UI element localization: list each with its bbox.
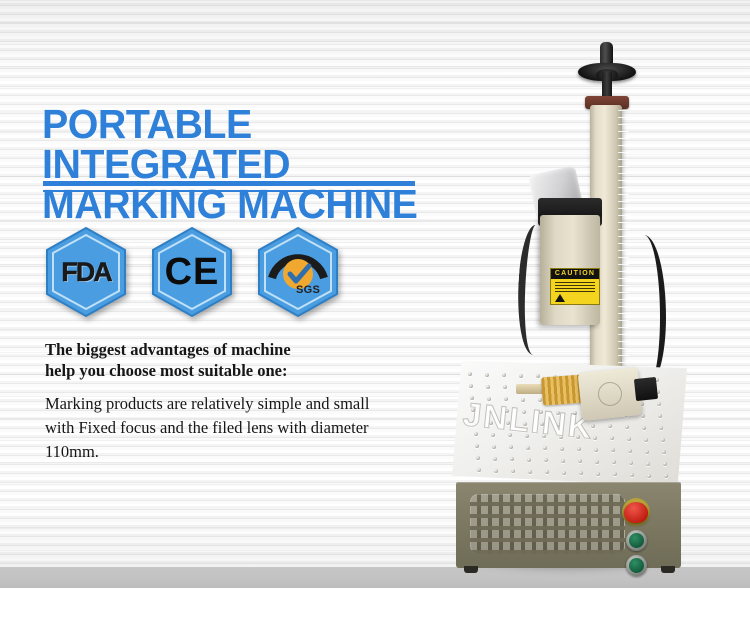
base-foot-right: [661, 566, 675, 573]
sgs-label: SGS: [296, 284, 336, 296]
power-button[interactable]: [626, 555, 647, 576]
lead-heading: The biggest advantages of machine help y…: [45, 339, 405, 381]
page-title: PORTABLE INTEGRATED MARKING MACHINE: [42, 104, 445, 224]
certification-badges: FDA CE: [44, 226, 364, 318]
description-paragraph: Marking products are relatively simple a…: [45, 392, 395, 464]
title-rule-thin: [43, 190, 415, 192]
ce-mark-text: CE: [160, 251, 224, 293]
lead-line-1: The biggest advantages of machine: [45, 340, 291, 359]
button-cap: [629, 533, 644, 548]
badge-ce: CE: [150, 226, 234, 318]
lead-line-2: help you choose most suitable one:: [45, 361, 287, 380]
base-foot-left: [464, 566, 478, 573]
emergency-stop-button[interactable]: [624, 502, 648, 523]
caution-label: CAUTION: [550, 268, 600, 305]
sgs-emblem: [256, 226, 340, 318]
bottom-white-strip: [0, 588, 750, 621]
ventilation-grille-overlay: [470, 494, 625, 554]
title-rule-thick: [43, 181, 415, 186]
base-cabinet: [456, 482, 681, 568]
badge-sgs: SGS: [256, 226, 340, 318]
button-cap: [629, 558, 644, 573]
title-line-1: PORTABLE INTEGRATED: [42, 101, 290, 187]
product-banner: PORTABLE INTEGRATED MARKING MACHINE FDA …: [0, 0, 750, 621]
product-photo-marking-machine: CAUTION JNLINK: [430, 20, 730, 580]
caution-label-title: CAUTION: [551, 269, 599, 279]
start-button[interactable]: [626, 530, 647, 551]
galvo-connector: [634, 377, 658, 401]
fda-mark-text: FDA: [58, 256, 114, 288]
badge-fda: FDA: [44, 226, 128, 318]
cable-right: [626, 235, 666, 385]
field-lens: [598, 382, 622, 406]
caution-label-text: [555, 282, 595, 294]
warning-triangle-icon: [555, 294, 565, 302]
